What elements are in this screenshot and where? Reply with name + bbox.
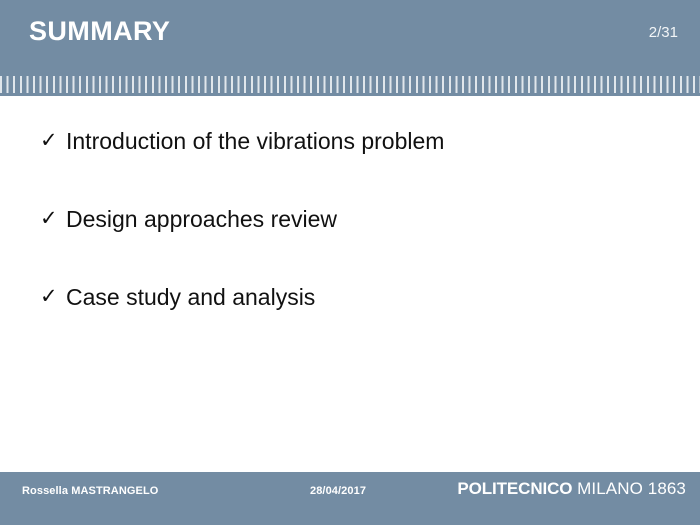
list-item: ✓ Case study and analysis <box>40 280 660 358</box>
checkmark-icon: ✓ <box>40 202 66 236</box>
presentation-slide: SUMMARY 2/31 ✓ Introduction of the vibra… <box>0 0 700 525</box>
logo-secondary-text: MILANO 1863 <box>577 479 686 498</box>
logo-primary-text: POLITECNICO <box>457 479 572 498</box>
list-item-label: Introduction of the vibrations problem <box>66 124 660 158</box>
page-title: SUMMARY <box>29 17 170 47</box>
checkmark-icon: ✓ <box>40 280 66 314</box>
bullet-list: ✓ Introduction of the vibrations problem… <box>40 124 660 358</box>
tick-ruler-icon <box>0 76 700 93</box>
slide-footer: Rossella MASTRANGELO 28/04/2017 POLITECN… <box>0 472 700 525</box>
checkmark-icon: ✓ <box>40 124 66 158</box>
page-number: 2/31 <box>649 25 678 42</box>
slide-body: ✓ Introduction of the vibrations problem… <box>0 96 700 472</box>
list-item-label: Design approaches review <box>66 202 660 236</box>
list-item-label: Case study and analysis <box>66 280 660 314</box>
list-item: ✓ Design approaches review <box>40 202 660 280</box>
politecnico-logo: POLITECNICO MILANO 1863 <box>457 479 686 499</box>
footer-author: Rossella MASTRANGELO <box>22 485 158 497</box>
slide-header: SUMMARY 2/31 <box>0 0 700 96</box>
footer-date: 28/04/2017 <box>310 485 366 497</box>
list-item: ✓ Introduction of the vibrations problem <box>40 124 660 202</box>
